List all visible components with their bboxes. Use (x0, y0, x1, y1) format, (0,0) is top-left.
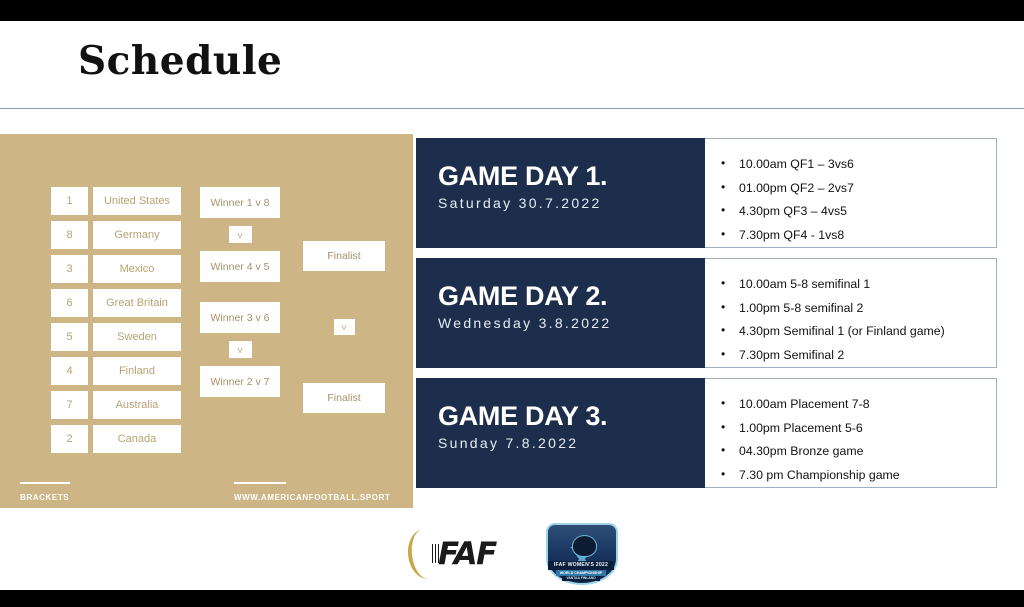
list-item: 10.00am QF1 – 3vs6 (739, 153, 990, 177)
page-title: Schedule (78, 42, 282, 81)
gameday-title: GAME DAY 3. (438, 402, 705, 430)
stripes-icon (432, 544, 441, 563)
gameday-card-2: GAME DAY 2. Wednesday 3.8.2022 10.00am 5… (416, 258, 997, 368)
faf-logo-icon: FAF (406, 527, 516, 581)
bottom-letterbox-bar (0, 590, 1024, 607)
gameday-header-2: GAME DAY 2. Wednesday 3.8.2022 (416, 258, 705, 368)
team-box: United States (93, 187, 181, 215)
gameday-header-3: GAME DAY 3. Sunday 7.8.2022 (416, 378, 705, 488)
versus-box: v (229, 226, 252, 243)
finalist-box: Finalist (303, 241, 385, 271)
semifinal-column: Winner 1 v 8 v Winner 4 v 5 Winner 3 v 6… (200, 187, 280, 397)
team-box: Canada (93, 425, 181, 453)
seed-box: 2 (51, 425, 88, 453)
team-column: United States Germany Mexico Great Brita… (93, 187, 181, 459)
team-box: Finland (93, 357, 181, 385)
finalist-box: Finalist (303, 383, 385, 413)
seed-box: 4 (51, 357, 88, 385)
presentation-frame: Schedule 1 8 3 6 5 4 7 2 United States G… (0, 0, 1024, 607)
bracket-footer-label: BRACKETS (20, 493, 70, 502)
slide-canvas: Schedule 1 8 3 6 5 4 7 2 United States G… (0, 21, 1024, 590)
list-item: 1.00pm 5-8 semifinal 2 (739, 297, 990, 321)
gameday-schedule-2: 10.00am 5-8 semifinal 1 1.00pm 5-8 semif… (705, 258, 997, 368)
faf-logo-text: FAF (438, 536, 496, 572)
seed-column: 1 8 3 6 5 4 7 2 (51, 187, 88, 459)
seed-box: 1 (51, 187, 88, 215)
gameday-date: Saturday 30.7.2022 (438, 195, 705, 211)
gameday-list: 10.00am Placement 7-8 1.00pm Placement 5… (721, 393, 990, 487)
team-box: Sweden (93, 323, 181, 351)
footer-rule (20, 482, 70, 484)
bracket-panel: 1 8 3 6 5 4 7 2 United States Germany Me… (0, 134, 413, 508)
semifinal-box: Winner 4 v 5 (200, 251, 280, 282)
versus-box: v (334, 319, 355, 335)
gameday-header-1: GAME DAY 1. Saturday 30.7.2022 (416, 138, 705, 248)
gameday-schedule-1: 10.00am QF1 – 3vs6 01.00pm QF2 – 2vs7 4.… (705, 138, 997, 248)
top-letterbox-bar (0, 0, 1024, 21)
bracket-footer-right: WWW.AMERICANFOOTBALL.SPORT (234, 482, 390, 502)
semifinal-box: Winner 2 v 7 (200, 366, 280, 397)
list-item: 10.00am Placement 7-8 (739, 393, 990, 417)
seed-box: 3 (51, 255, 88, 283)
team-box: Mexico (93, 255, 181, 283)
list-item: 04.30pm Bronze game (739, 440, 990, 464)
gameday-title: GAME DAY 1. (438, 162, 705, 190)
badge-location-text: VANTAA FINLAND (562, 576, 600, 581)
team-box: Australia (93, 391, 181, 419)
gameday-card-1: GAME DAY 1. Saturday 30.7.2022 10.00am Q… (416, 138, 997, 248)
list-item: 1.00pm Placement 5-6 (739, 417, 990, 441)
gameday-date: Sunday 7.8.2022 (438, 435, 705, 451)
seed-box: 6 (51, 289, 88, 317)
badge-title-text: IFAF WOMEN'S 2022 (548, 561, 614, 570)
list-item: 10.00am 5-8 semifinal 1 (739, 273, 990, 297)
team-box: Germany (93, 221, 181, 249)
gameday-date: Wednesday 3.8.2022 (438, 315, 705, 331)
seed-box: 7 (51, 391, 88, 419)
ifaf-championship-badge-icon: IFAF WOMEN'S 2022 WORLD CHAMPIONSHIP VAN… (546, 523, 618, 585)
semifinal-box: Winner 1 v 8 (200, 187, 280, 218)
list-item: 7.30 pm Championship game (739, 464, 990, 488)
gameday-list: 10.00am 5-8 semifinal 1 1.00pm 5-8 semif… (721, 273, 990, 367)
gameday-schedule-3: 10.00am Placement 7-8 1.00pm Placement 5… (705, 378, 997, 488)
logo-row: FAF IFAF WOMEN'S 2022 WORLD CHAMPIONSHIP… (0, 517, 1024, 590)
list-item: 7.30pm QF4 - 1vs8 (739, 224, 990, 248)
bracket-footer-left: BRACKETS (20, 482, 70, 502)
list-item: 7.30pm Semifinal 2 (739, 344, 990, 368)
list-item: 4.30pm Semifinal 1 (or Finland game) (739, 320, 990, 344)
footer-rule (234, 482, 286, 484)
seed-box: 8 (51, 221, 88, 249)
helmet-icon (572, 535, 597, 557)
list-item: 4.30pm QF3 – 4vs5 (739, 200, 990, 224)
gameday-list: 10.00am QF1 – 3vs6 01.00pm QF2 – 2vs7 4.… (721, 153, 990, 247)
bracket-footer-url: WWW.AMERICANFOOTBALL.SPORT (234, 493, 390, 502)
versus-box: v (229, 341, 252, 358)
title-divider (0, 108, 1024, 109)
semifinal-box: Winner 3 v 6 (200, 302, 280, 333)
team-box: Great Britain (93, 289, 181, 317)
gameday-card-3: GAME DAY 3. Sunday 7.8.2022 10.00am Plac… (416, 378, 997, 488)
seed-box: 5 (51, 323, 88, 351)
gameday-title: GAME DAY 2. (438, 282, 705, 310)
bracket-spacer (200, 282, 280, 302)
list-item: 01.00pm QF2 – 2vs7 (739, 177, 990, 201)
finalist-column: Finalist v Finalist (303, 241, 385, 413)
